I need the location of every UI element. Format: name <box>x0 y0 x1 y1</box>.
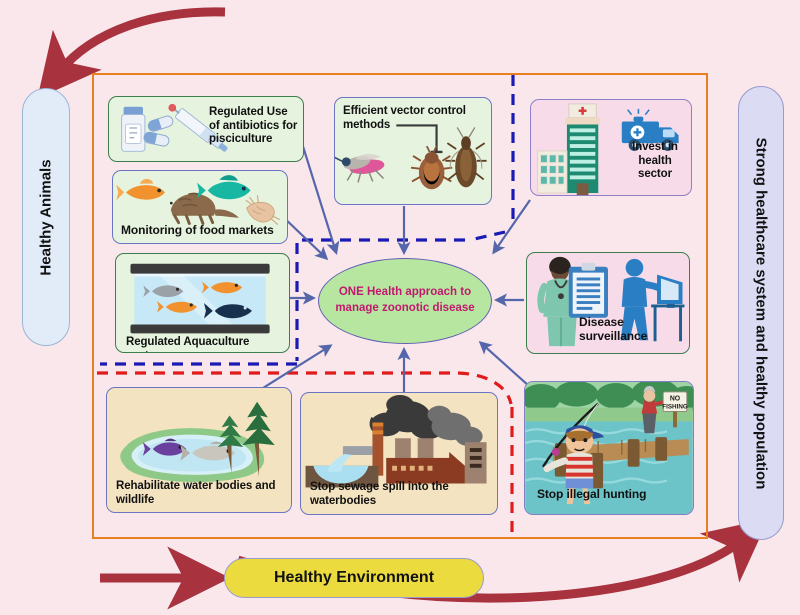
card-disease-surveillance[interactable]: Disease surveillance <box>526 252 690 354</box>
center-node-label: ONE Health approach to manage zoonotic d… <box>319 285 491 316</box>
card-aquaculture[interactable]: Regulated Aquaculture systems <box>115 253 290 353</box>
label-healthcare-system-text: Strong healthcare system and healthy pop… <box>753 137 770 489</box>
center-node[interactable]: ONE Health approach to manage zoonotic d… <box>318 258 492 344</box>
card-disease-surveillance-label: Disease surveillance <box>579 315 679 343</box>
card-food-markets-label: Monitoring of food markets <box>121 223 288 237</box>
card-rehabilitate-label: Rehabilitate water bodies and wildlife <box>116 480 286 507</box>
card-sewage[interactable]: Stop sewage spill into the waterbodies <box>300 392 498 515</box>
card-vector-control[interactable]: Efficient vector control methods <box>334 97 492 205</box>
svg-text:FISHING: FISHING <box>662 404 688 411</box>
card-vector-control-label: Efficient vector control methods <box>343 105 473 132</box>
label-healthcare-system: Strong healthcare system and healthy pop… <box>738 86 784 540</box>
card-hunting[interactable]: NO FISHING Stop illegal hunting <box>524 381 694 515</box>
card-health-sector[interactable]: Invest in health sector <box>530 99 692 196</box>
label-healthy-animals: Healthy Animals <box>22 88 70 346</box>
card-aquaculture-label: Regulated Aquaculture systems <box>126 336 286 353</box>
label-healthy-animals-text: Healthy Animals <box>38 159 55 275</box>
card-antibiotics-label: Regulated Use of antibiotics for piscicu… <box>209 106 299 147</box>
card-food-markets[interactable]: Monitoring of food markets <box>112 170 288 244</box>
card-sewage-label: Stop sewage spill into the waterbodies <box>310 481 492 508</box>
figure-canvas: Regulated Use of antibiotics for piscicu… <box>0 0 800 615</box>
arrow-to-healthy-animals <box>59 12 225 72</box>
card-health-sector-label: Invest in health sector <box>623 141 687 182</box>
card-antibiotics[interactable]: Regulated Use of antibiotics for piscicu… <box>108 96 304 162</box>
label-healthy-environment: Healthy Environment <box>224 558 484 598</box>
card-hunting-label: Stop illegal hunting <box>537 487 687 501</box>
card-rehabilitate[interactable]: Rehabilitate water bodies and wildlife <box>106 387 292 513</box>
svg-text:NO: NO <box>670 396 681 403</box>
label-healthy-environment-text: Healthy Environment <box>274 569 434 587</box>
